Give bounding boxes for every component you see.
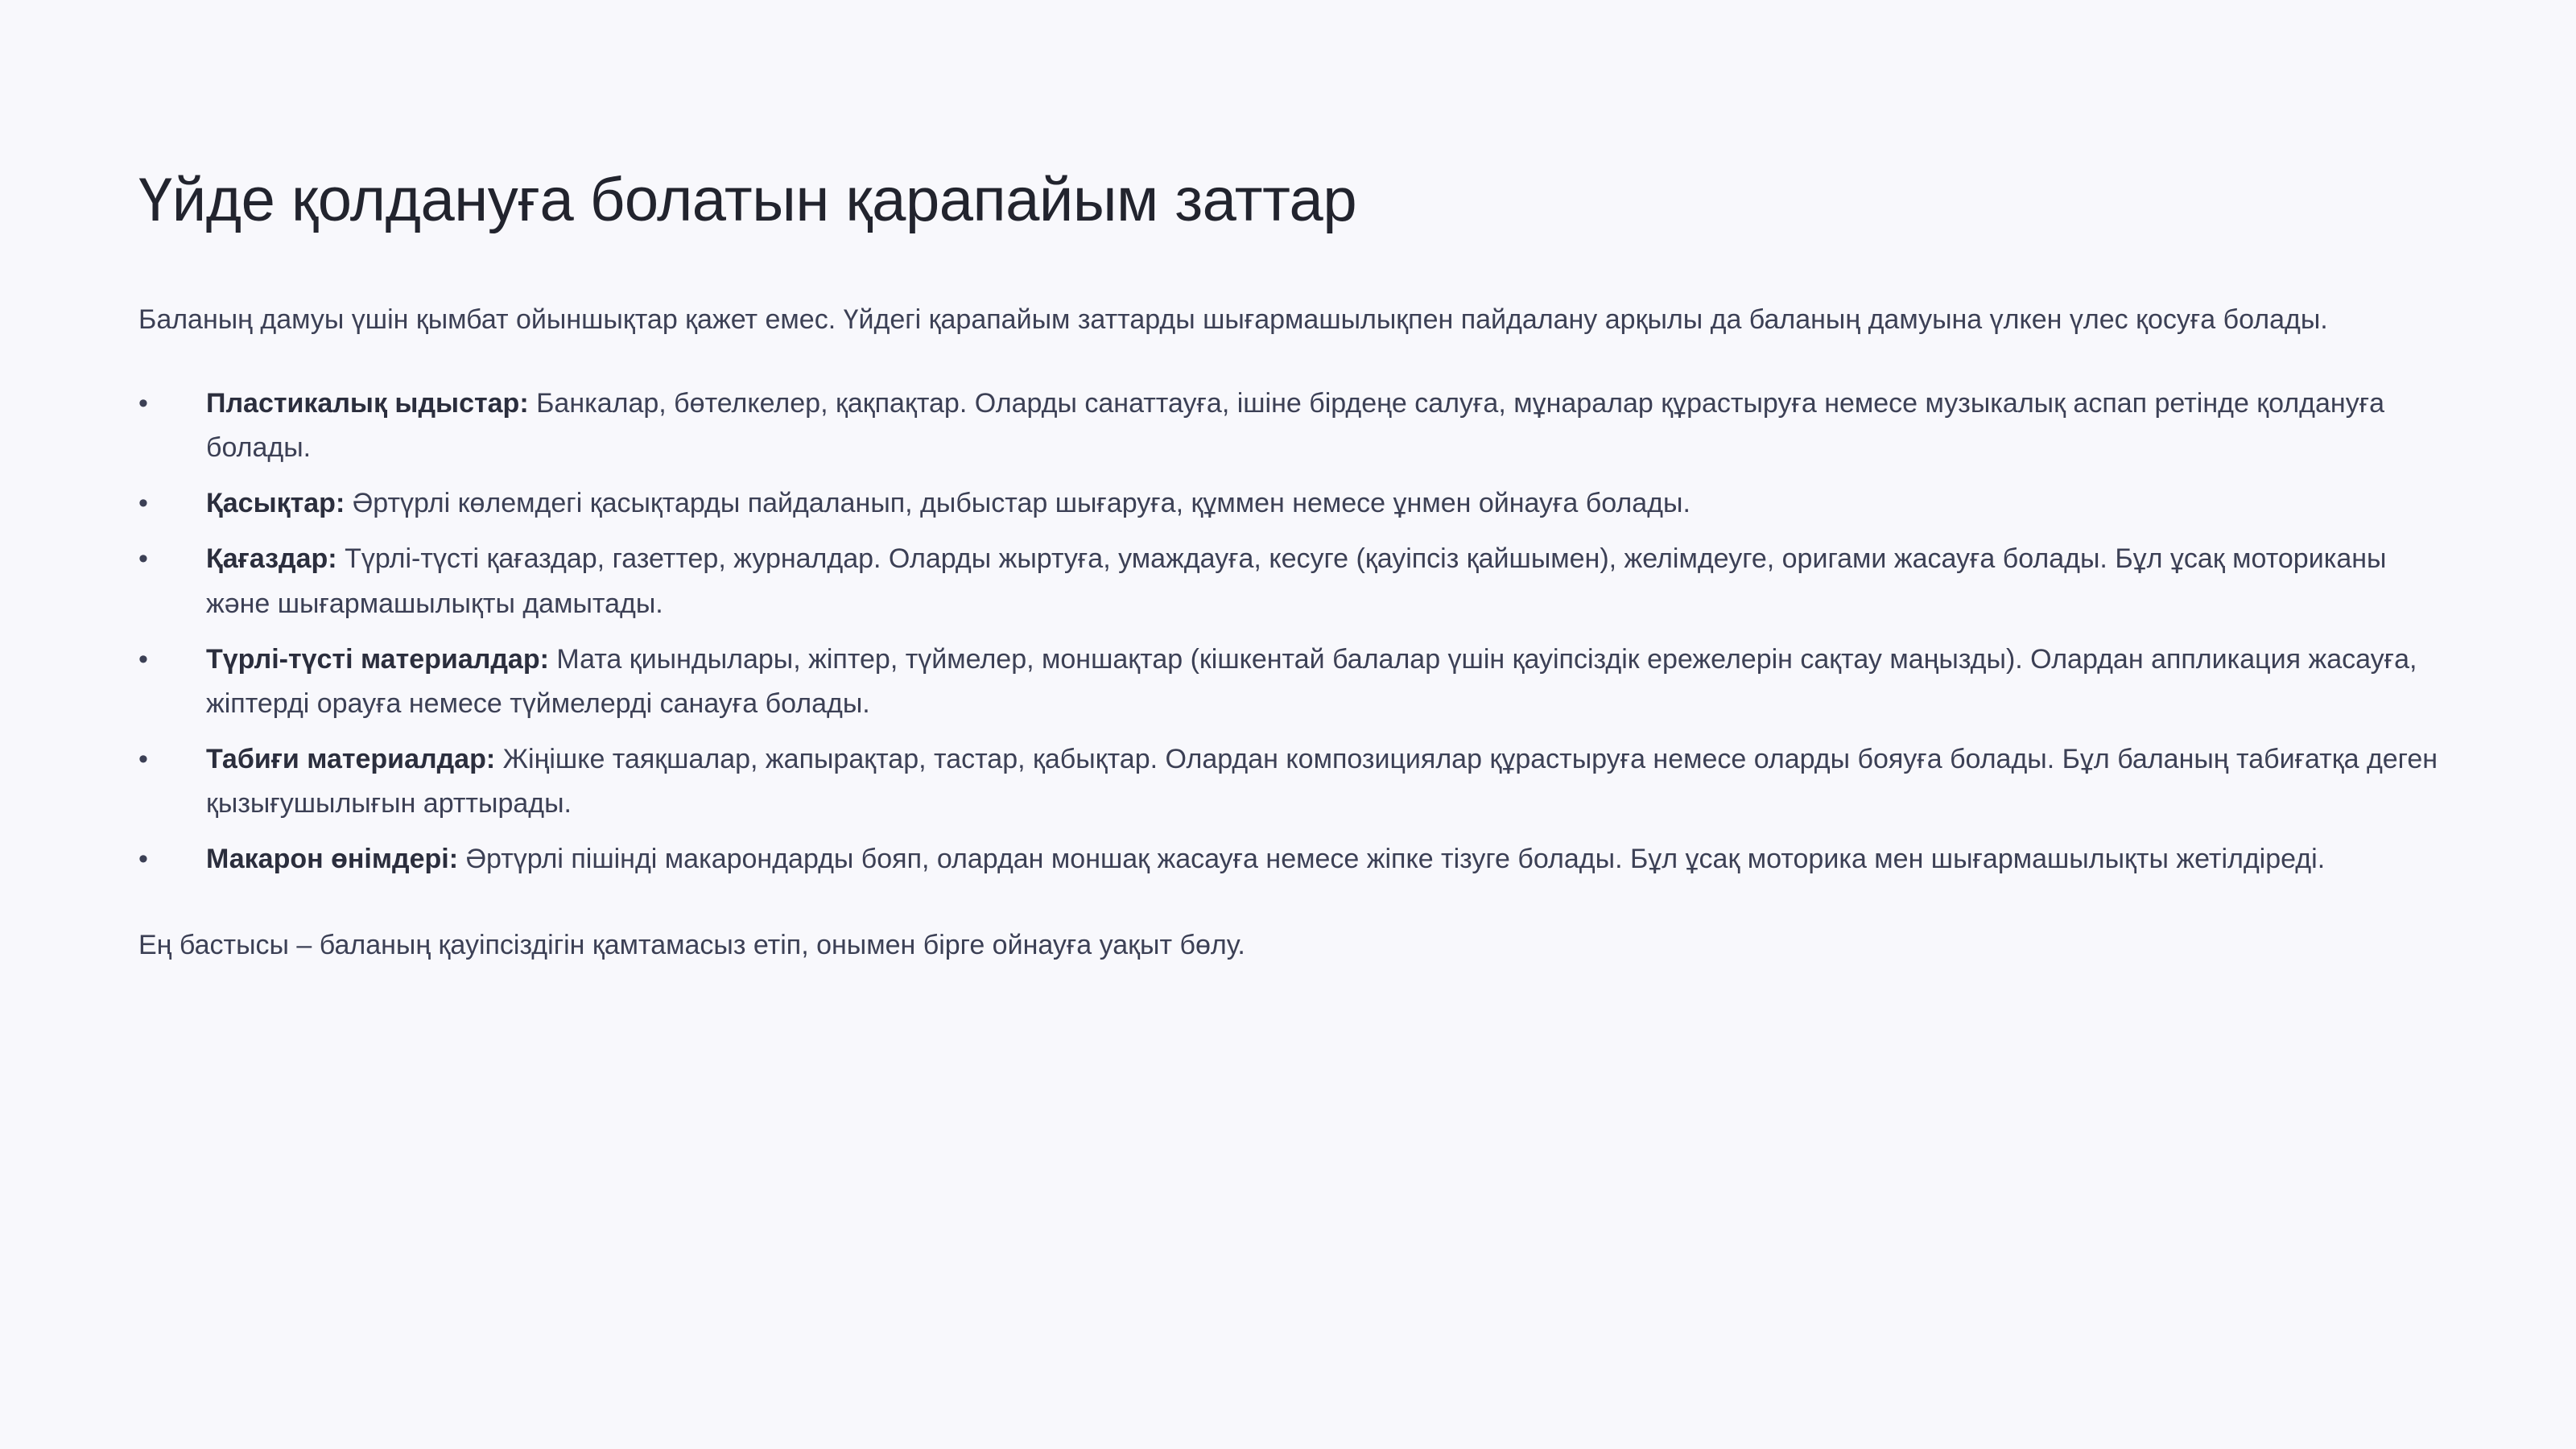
list-item: • Пластикалық ыдыстар: Банкалар, бөтелке… <box>138 382 2449 470</box>
bullet-icon: • <box>138 382 166 426</box>
list-item: • Қасықтар: Әртүрлі көлемдегі қасықтарды… <box>138 481 2449 526</box>
document-content: Үйде қолдануға болатын қарапайым заттар … <box>138 0 2449 968</box>
document-page: Үйде қолдануға болатын қарапайым заттар … <box>0 0 2576 1449</box>
list-item-term: Табиғи материалдар: <box>206 744 495 774</box>
list-item-body: Банкалар, бөтелкелер, қақпақтар. Оларды … <box>206 388 2384 463</box>
list-item: • Макарон өнімдері: Әртүрлі пішінді мака… <box>138 837 2449 881</box>
closing-paragraph: Ең бастысы – баланың қауіпсіздігін қамта… <box>138 881 2344 968</box>
materials-list: • Пластикалық ыдыстар: Банкалар, бөтелке… <box>138 342 2449 881</box>
bullet-icon: • <box>138 481 166 526</box>
list-item: • Қағаздар: Түрлі-түсті қағаздар, газетт… <box>138 537 2449 625</box>
list-item-term: Пластикалық ыдыстар: <box>206 388 529 419</box>
bullet-icon: • <box>138 737 166 782</box>
bullet-icon: • <box>138 837 166 881</box>
list-item-body: Жіңішке таяқшалар, жапырақтар, тастар, қ… <box>206 744 2438 819</box>
bullet-icon: • <box>138 537 166 581</box>
list-item-body: Түрлі-түсті қағаздар, газеттер, журналда… <box>206 543 2386 618</box>
list-item: • Табиғи материалдар: Жіңішке таяқшалар,… <box>138 737 2449 826</box>
list-item-term: Қасықтар: <box>206 488 345 518</box>
list-item-term: Макарон өнімдері: <box>206 844 458 874</box>
list-item-term: Қағаздар: <box>206 543 337 574</box>
list-item-term: Түрлі-түсті материалдар: <box>206 644 549 675</box>
list-item: • Түрлі-түсті материалдар: Мата қиындыла… <box>138 638 2449 726</box>
list-item-body: Әртүрлі пішінді макарондарды бояп, олард… <box>458 844 2325 874</box>
intro-paragraph: Баланың дамуы үшін қымбат ойыншықтар қаж… <box>138 234 2344 342</box>
page-title: Үйде қолдануға болатын қарапайым заттар <box>138 0 2449 234</box>
bullet-icon: • <box>138 638 166 682</box>
list-item-body: Әртүрлі көлемдегі қасықтарды пайдаланып,… <box>345 488 1690 518</box>
